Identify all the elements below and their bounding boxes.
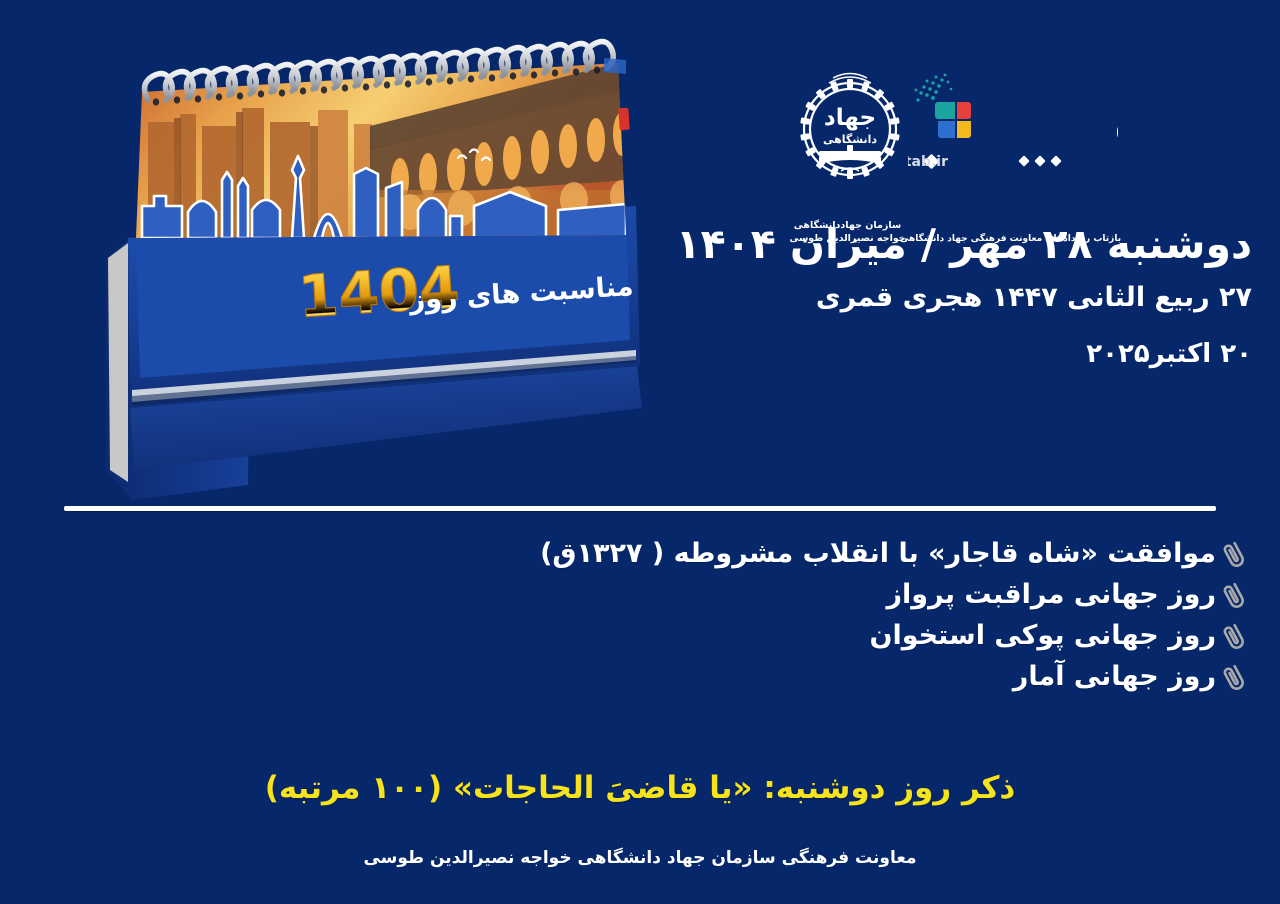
list-item: روز جهانی مراقبت پرواز — [242, 575, 1252, 616]
list-item: موافقت «شاه قاجار» با انقلاب مشروطه ( ۱۳… — [242, 534, 1252, 575]
roytab-wordmark-text: رویتاب — [1113, 86, 1118, 159]
footer-organization-text: معاونت فرهنگی سازمان جهاد دانشگاهی خواجه… — [0, 848, 1280, 868]
events-list: موافقت «شاه قاجار» با انقلاب مشروطه ( ۱۳… — [242, 534, 1252, 698]
paperclip-icon — [1222, 620, 1252, 654]
roytab-logo: رویتاب — [908, 72, 1118, 192]
paperclip-icon — [1222, 579, 1252, 613]
paperclip-icon — [1222, 538, 1252, 572]
calendar-red-tab — [618, 108, 629, 131]
roytab-domain-text: Roytab.ir — [908, 154, 948, 170]
date-block: دوشنبه ۲۸ مهر / میزان ۱۴۰۴ ۲۷ ربیع الثان… — [632, 218, 1252, 374]
section-divider — [64, 506, 1216, 511]
paperclip-icon — [1222, 661, 1252, 695]
list-item: روز جهانی پوکی استخوان — [242, 616, 1252, 657]
daily-zekr-text: ذکر روز دوشنبه: «یا قاضیَ الحاجات» (۱۰۰ … — [0, 770, 1280, 806]
jahad-mark-subtext: دانشگاهی — [823, 133, 877, 146]
logo-row: جهاد دانشگاهی سازمان جهاددانشگاهی خواجه … — [780, 62, 1120, 207]
poster-canvas: 1404 مناسبت های روز — [0, 0, 1280, 904]
roytab-color-mark — [915, 74, 971, 138]
jahad-mark-text: جهاد — [824, 105, 876, 131]
event-text: روز جهانی پوکی استخوان — [869, 622, 1216, 650]
event-text: روز جهانی آمار — [1013, 663, 1216, 691]
event-text: روز جهانی مراقبت پرواز — [886, 581, 1216, 609]
list-item: روز جهانی آمار — [242, 657, 1252, 698]
date-ghamari: ۲۷ ربیع الثانی ۱۴۴۷ هجری قمری — [632, 278, 1252, 319]
roytab-domain-row: Roytab.ir — [908, 154, 1062, 170]
date-shamsi: دوشنبه ۲۸ مهر / میزان ۱۴۰۴ — [632, 218, 1252, 270]
event-text: موافقت «شاه قاجار» با انقلاب مشروطه ( ۱۳… — [540, 540, 1216, 568]
date-miladi: ۲۰ اکتبر۲۰۲۵ — [632, 335, 1252, 374]
desk-calendar-photo: 1404 مناسبت های روز — [70, 30, 690, 500]
jahad-daneshgahi-logo: جهاد دانشگاهی — [785, 67, 915, 202]
